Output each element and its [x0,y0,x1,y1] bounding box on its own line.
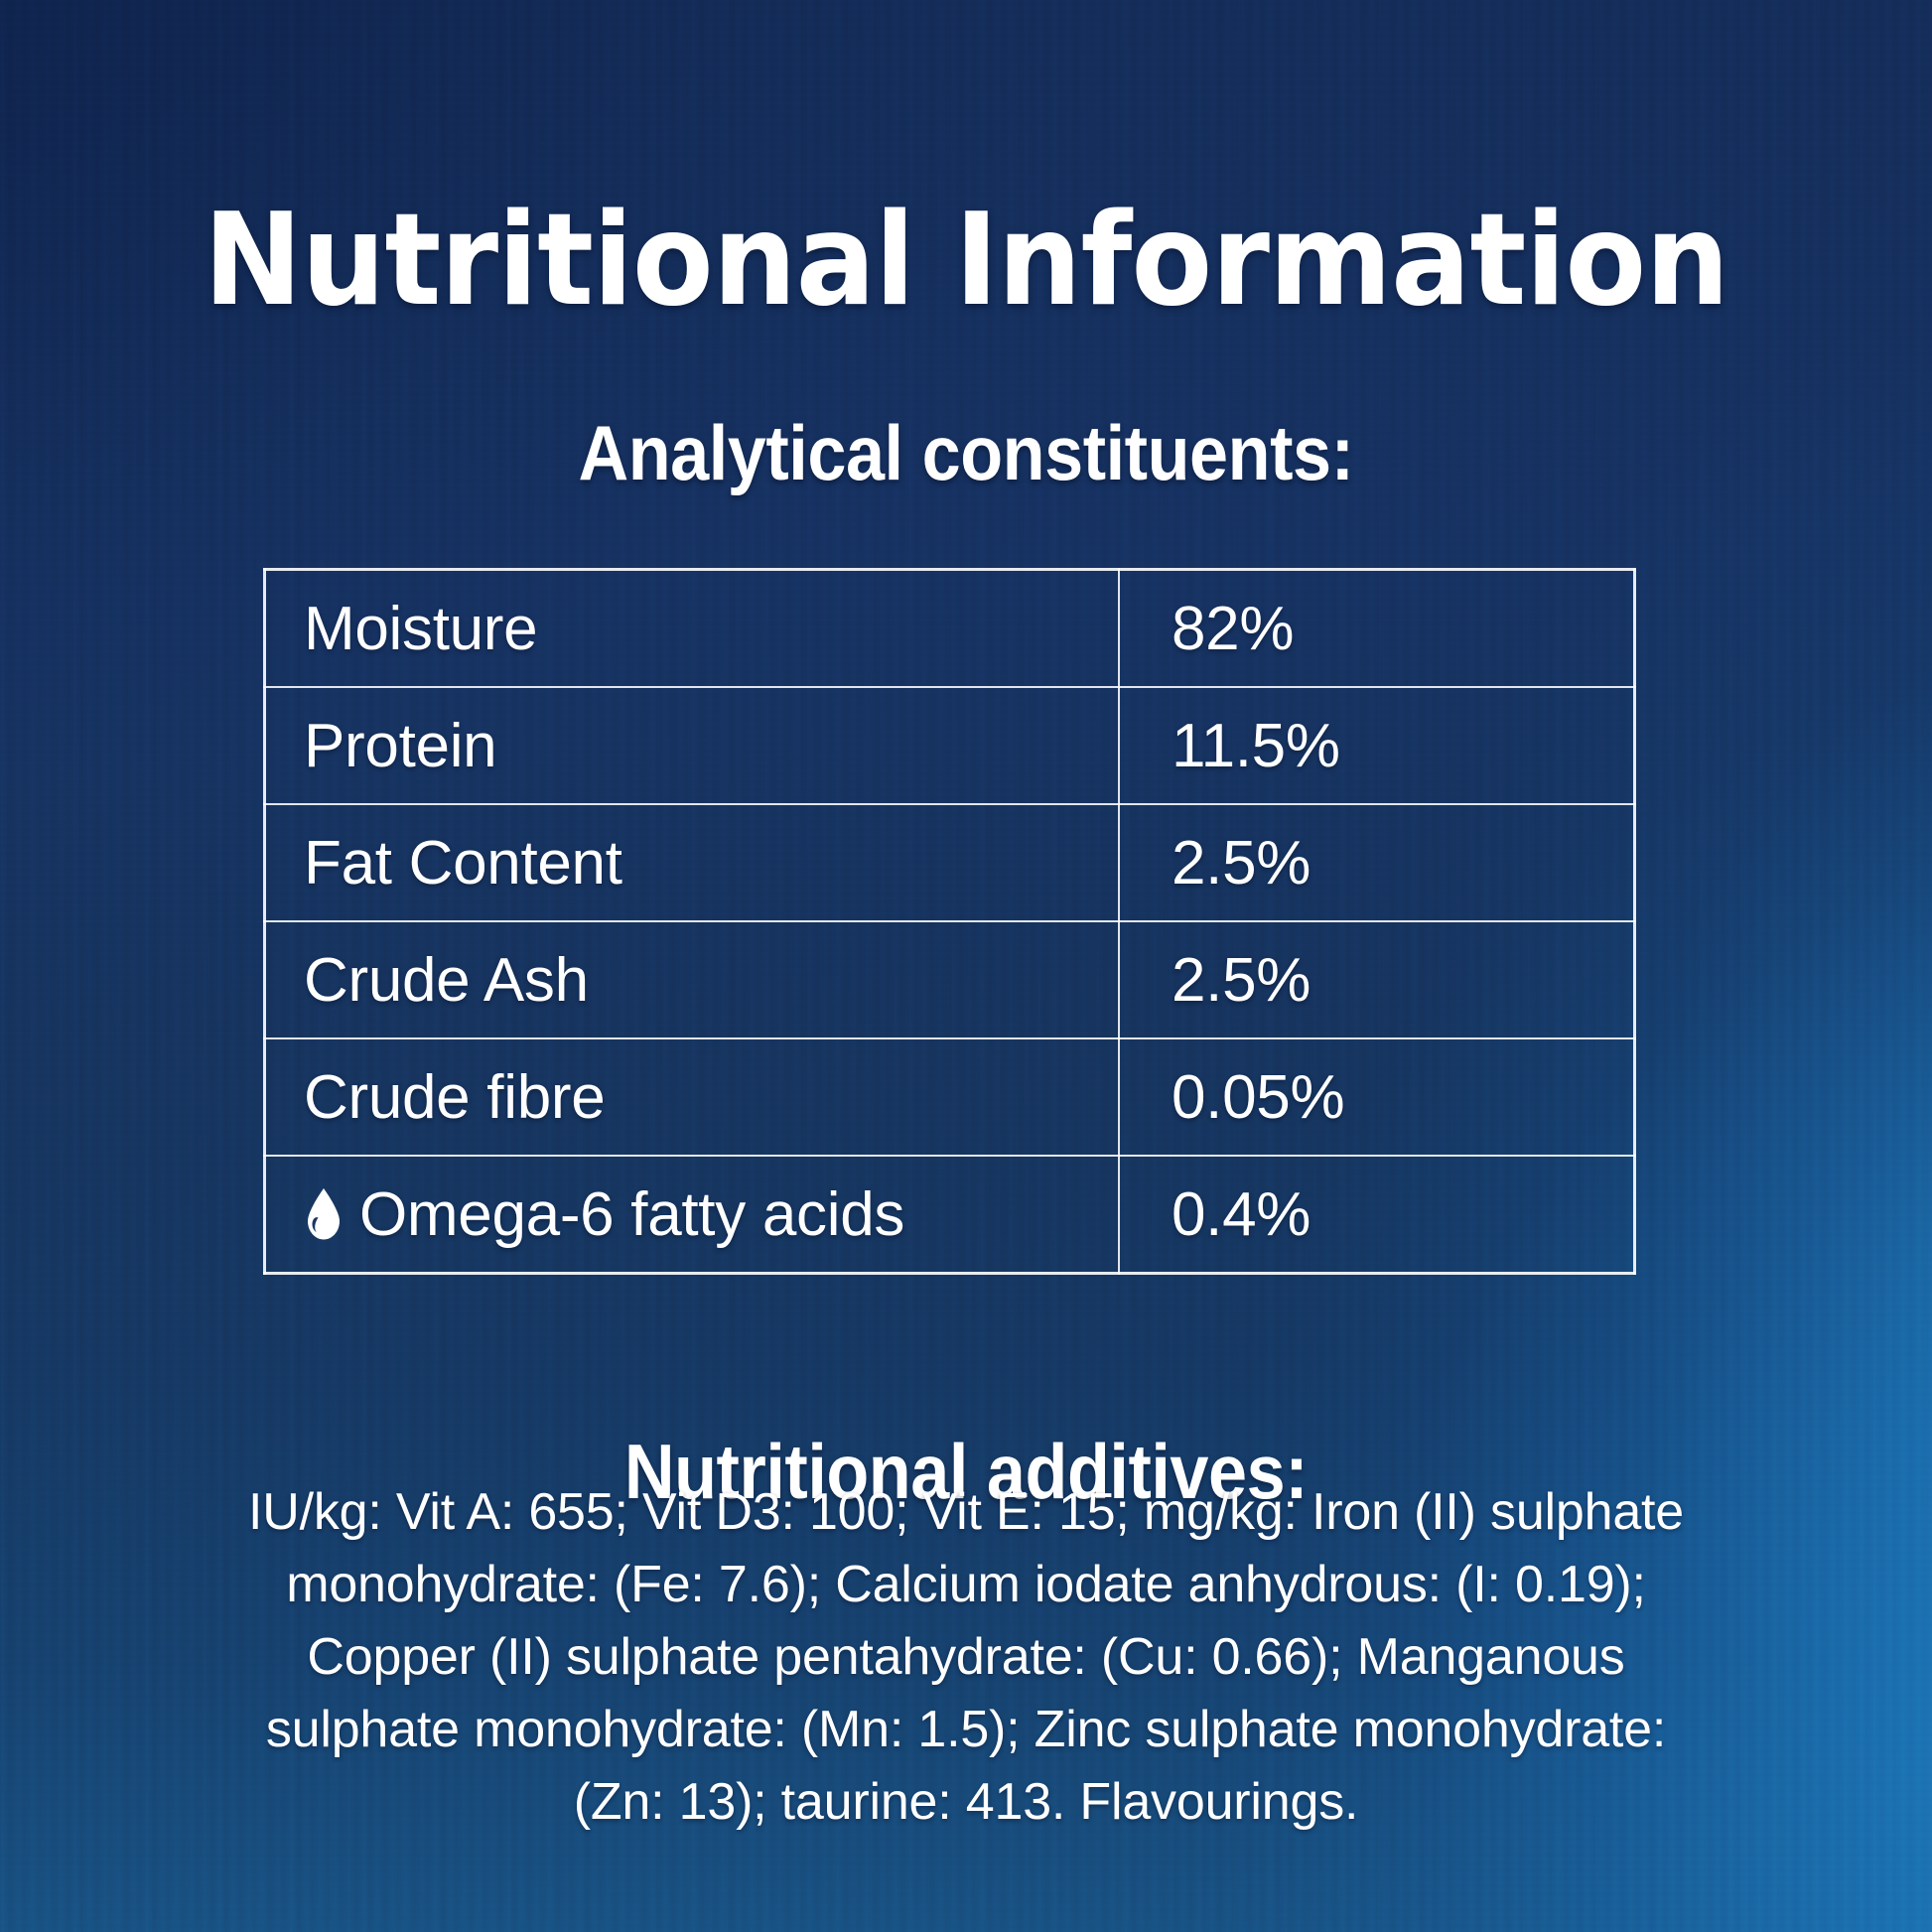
table-row: Omega-6 fatty acids 0.4% [265,1156,1635,1274]
constituent-name-cell: Crude fibre [265,1038,1120,1156]
constituent-name-cell: Omega-6 fatty acids [265,1156,1120,1274]
constituent-name-cell: Fat Content [265,804,1120,921]
table-row: Moisture 82% [265,570,1635,688]
constituent-value-cell: 0.4% [1119,1156,1635,1274]
constituent-value-cell: 2.5% [1119,804,1635,921]
water-drop-icon [304,1187,344,1241]
page-title: Nutritional Information [68,197,1864,327]
table-row: Fat Content 2.5% [265,804,1635,921]
table-row: Crude fibre 0.05% [265,1038,1635,1156]
constituent-value-cell: 82% [1119,570,1635,688]
additives-line: (Zn: 13); taurine: 413. Flavourings. [119,1766,1813,1839]
table-body: Moisture 82% Protein 11.5% [265,570,1635,1274]
additives-line: IU/kg: Vit A: 655; Vit D3: 100; Vit E: 1… [119,1476,1813,1549]
nutritional-additives-text: IU/kg: Vit A: 655; Vit D3: 100; Vit E: 1… [119,1476,1813,1839]
constituent-name-cell: Moisture [265,570,1120,688]
nutritional-information-panel: Nutritional Information Analytical const… [0,0,1932,1932]
constituent-name: Moisture [304,594,537,664]
constituent-name-cell: Crude Ash [265,921,1120,1038]
analytical-constituents-table: Moisture 82% Protein 11.5% [263,568,1636,1275]
constituent-name: Crude fibre [304,1062,605,1133]
constituent-name: Protein [304,711,496,781]
table-row: Crude Ash 2.5% [265,921,1635,1038]
constituent-name-cell: Protein [265,687,1120,804]
constituent-value-cell: 2.5% [1119,921,1635,1038]
constituent-value-cell: 0.05% [1119,1038,1635,1156]
table-row: Protein 11.5% [265,687,1635,804]
additives-line: Copper (II) sulphate pentahydrate: (Cu: … [119,1621,1813,1694]
additives-line: monohydrate: (Fe: 7.6); Calcium iodate a… [119,1549,1813,1621]
constituent-name: Crude Ash [304,945,589,1016]
constituent-name: Fat Content [304,828,622,898]
additives-line: sulphate monohydrate: (Mn: 1.5); Zinc su… [119,1694,1813,1766]
constituent-value-cell: 11.5% [1119,687,1635,804]
analytical-constituents-heading: Analytical constituents: [96,414,1835,491]
constituent-name: Omega-6 fatty acids [359,1179,904,1250]
